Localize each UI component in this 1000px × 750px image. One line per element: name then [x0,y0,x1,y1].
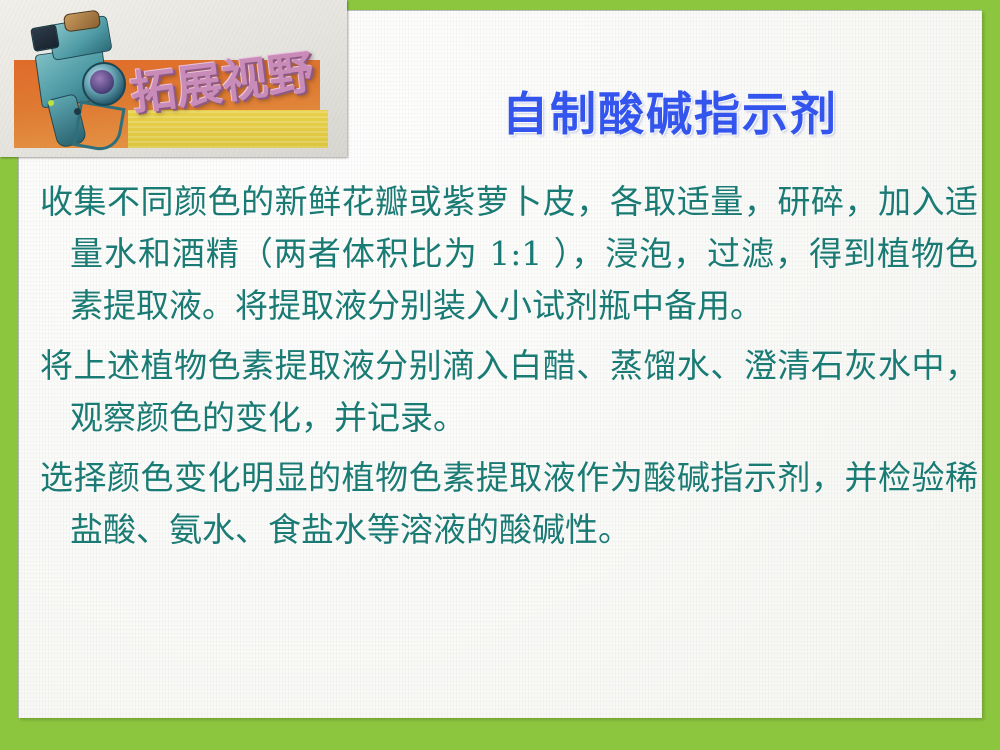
camera-indicator-light [48,100,54,106]
video-camera-icon [30,8,145,153]
camera-handle-shape [72,100,125,153]
camera-viewfinder-shape [30,24,60,52]
slide-canvas: 拓展视野 自制酸碱指示剂 收集不同颜色的新鲜花瓣或紫萝卜皮，各取适量，研碎，加入… [0,0,1000,750]
camera-button-dot [74,108,81,115]
paragraph-3: 选择颜色变化明显的植物色素提取液作为酸碱指示剂，并检验稀盐酸、氨水、食盐水等溶液… [40,452,978,556]
body-content: 收集不同颜色的新鲜花瓣或紫萝卜皮，各取适量，研碎，加入适量水和酒精（两者体积比为… [40,176,978,562]
camera-lens-inner-shape [90,70,114,94]
page-title: 自制酸碱指示剂 [430,78,910,144]
expand-vision-photo-banner: 拓展视野 [0,0,347,157]
paragraph-2: 将上述植物色素提取液分别滴入白醋、蒸馏水、澄清石灰水中，观察颜色的变化，并记录。 [40,340,978,444]
paragraph-1: 收集不同颜色的新鲜花瓣或紫萝卜皮，各取适量，研碎，加入适量水和酒精（两者体积比为… [40,176,978,332]
